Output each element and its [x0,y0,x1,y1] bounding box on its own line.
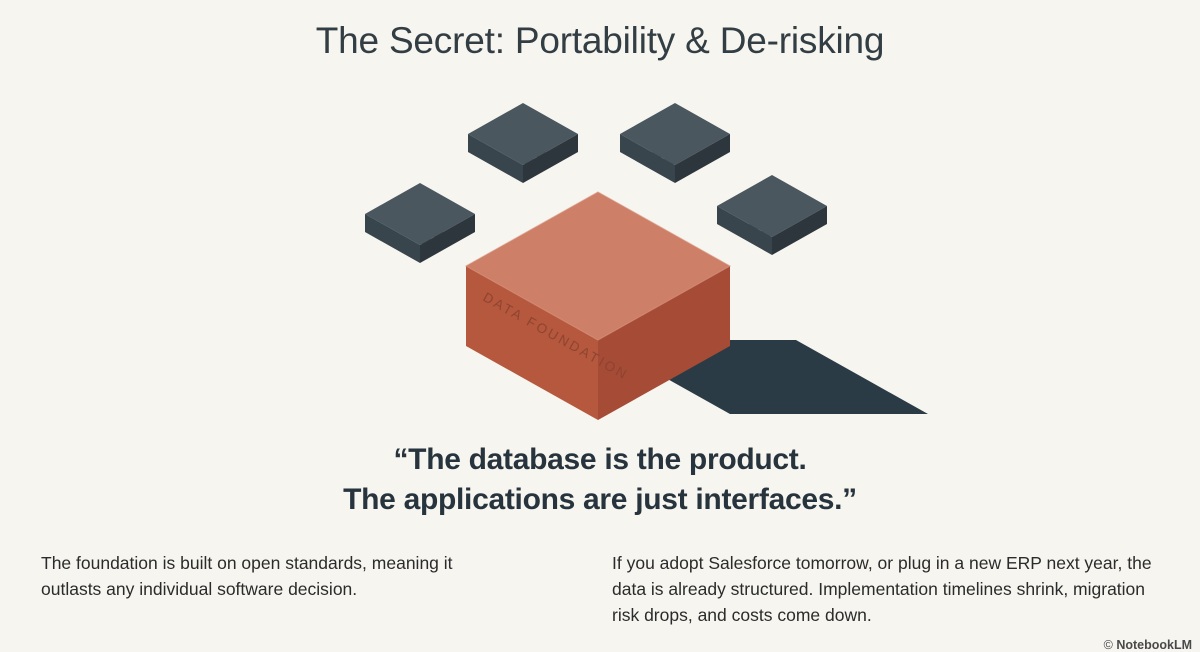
pull-quote-line-2: The applications are just interfaces.” [0,480,1200,520]
chip-module-left [365,183,475,263]
body-paragraph-right: If you adopt Salesforce tomorrow, or plu… [612,550,1172,628]
pull-quote: “The database is the product. The applic… [0,440,1200,520]
copyright-icon: © [1104,638,1113,652]
illustration-container: DATA FOUNDATION [0,88,1200,436]
chip-module-top-right [620,103,730,183]
chip-module-right [717,175,827,255]
body-paragraph-left: The foundation is built on open standard… [41,550,511,602]
isometric-diagram-svg: DATA FOUNDATION [0,88,1200,436]
page-title: The Secret: Portability & De-risking [0,20,1200,62]
watermark-label: NotebookLM [1116,638,1192,652]
pull-quote-line-1: “The database is the product. [0,440,1200,480]
watermark: © NotebookLM [1104,638,1192,652]
chip-module-top-left [468,103,578,183]
body-columns: The foundation is built on open standard… [0,550,1200,642]
slide-canvas: The Secret: Portability & De-risking [0,0,1200,648]
